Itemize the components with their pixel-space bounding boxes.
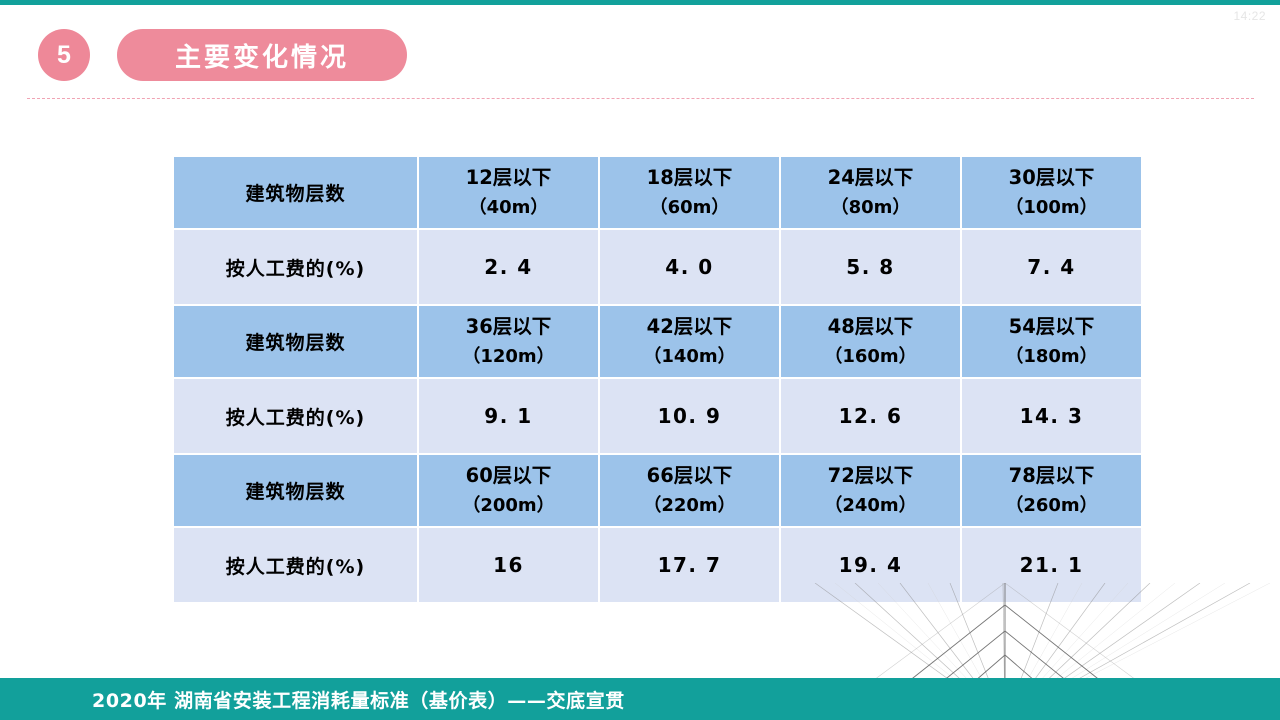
table-cell: 36层以下 （120m） [419,306,598,377]
clock-timestamp: 14:22 [1233,9,1266,23]
table-row: 建筑物层数 36层以下 （120m） 42层以下 （140m） 48层以下 （1… [174,306,1141,377]
height-range: （240m） [781,492,960,520]
table-cell: 12层以下 （40m） [419,157,598,228]
height-range: （120m） [419,343,598,371]
top-accent-bar [0,0,1280,5]
floors-range: 12层以下 [419,163,598,193]
table-cell-value: 7. 4 [962,230,1141,304]
floors-range: 54层以下 [962,312,1141,342]
height-range: （180m） [962,343,1141,371]
row-label-percent: 按人工费的(%) [174,379,417,453]
height-range: （100m） [962,194,1141,222]
height-range: （40m） [419,194,598,222]
table-cell: 48层以下 （160m） [781,306,960,377]
table-cell: 54层以下 （180m） [962,306,1141,377]
table-cell-value: 17. 7 [600,528,779,602]
table-row: 按人工费的(%) 16 17. 7 19. 4 21. 1 [174,528,1141,602]
table-cell-value: 16 [419,528,598,602]
floors-range: 36层以下 [419,312,598,342]
section-number-badge: 5 [38,29,90,81]
page-title: 主要变化情况 [117,29,407,81]
rates-table: 建筑物层数 12层以下 （40m） 18层以下 （60m） 24层以下 （80m… [172,155,1143,604]
table-cell-value: 21. 1 [962,528,1141,602]
table-cell-value: 10. 9 [600,379,779,453]
table-row: 建筑物层数 12层以下 （40m） 18层以下 （60m） 24层以下 （80m… [174,157,1141,228]
table-row: 按人工费的(%) 2. 4 4. 0 5. 8 7. 4 [174,230,1141,304]
table-row: 建筑物层数 60层以下 （200m） 66层以下 （220m） 72层以下 （2… [174,455,1141,526]
floors-range: 18层以下 [600,163,779,193]
table-cell: 18层以下 （60m） [600,157,779,228]
table-cell-value: 9. 1 [419,379,598,453]
floors-range: 30层以下 [962,163,1141,193]
row-label-floors: 建筑物层数 [174,455,417,526]
height-range: （260m） [962,492,1141,520]
table-cell-value: 12. 6 [781,379,960,453]
floors-range: 60层以下 [419,461,598,491]
slide-header: 5 主要变化情况 [38,29,407,81]
floors-range: 78层以下 [962,461,1141,491]
floors-range: 72层以下 [781,461,960,491]
table-cell: 78层以下 （260m） [962,455,1141,526]
table-cell: 72层以下 （240m） [781,455,960,526]
table-cell-value: 19. 4 [781,528,960,602]
height-range: （80m） [781,194,960,222]
table-cell-value: 5. 8 [781,230,960,304]
floors-range: 42层以下 [600,312,779,342]
height-range: （60m） [600,194,779,222]
table-cell: 60层以下 （200m） [419,455,598,526]
row-label-floors: 建筑物层数 [174,157,417,228]
height-range: （220m） [600,492,779,520]
floors-range: 24层以下 [781,163,960,193]
row-label-percent: 按人工费的(%) [174,230,417,304]
height-range: （160m） [781,343,960,371]
height-range: （200m） [419,492,598,520]
table-cell: 42层以下 （140m） [600,306,779,377]
table-cell: 66层以下 （220m） [600,455,779,526]
footer-title: 2020年 湖南省安装工程消耗量标准（基价表）——交底宣贯 [0,678,1280,720]
table-cell-value: 14. 3 [962,379,1141,453]
table-cell: 24层以下 （80m） [781,157,960,228]
floors-range: 48层以下 [781,312,960,342]
table-cell-value: 2. 4 [419,230,598,304]
height-range: （140m） [600,343,779,371]
table-cell: 30层以下 （100m） [962,157,1141,228]
table-cell-value: 4. 0 [600,230,779,304]
row-label-percent: 按人工费的(%) [174,528,417,602]
header-divider [27,98,1254,99]
floors-range: 66层以下 [600,461,779,491]
table-row: 按人工费的(%) 9. 1 10. 9 12. 6 14. 3 [174,379,1141,453]
row-label-floors: 建筑物层数 [174,306,417,377]
